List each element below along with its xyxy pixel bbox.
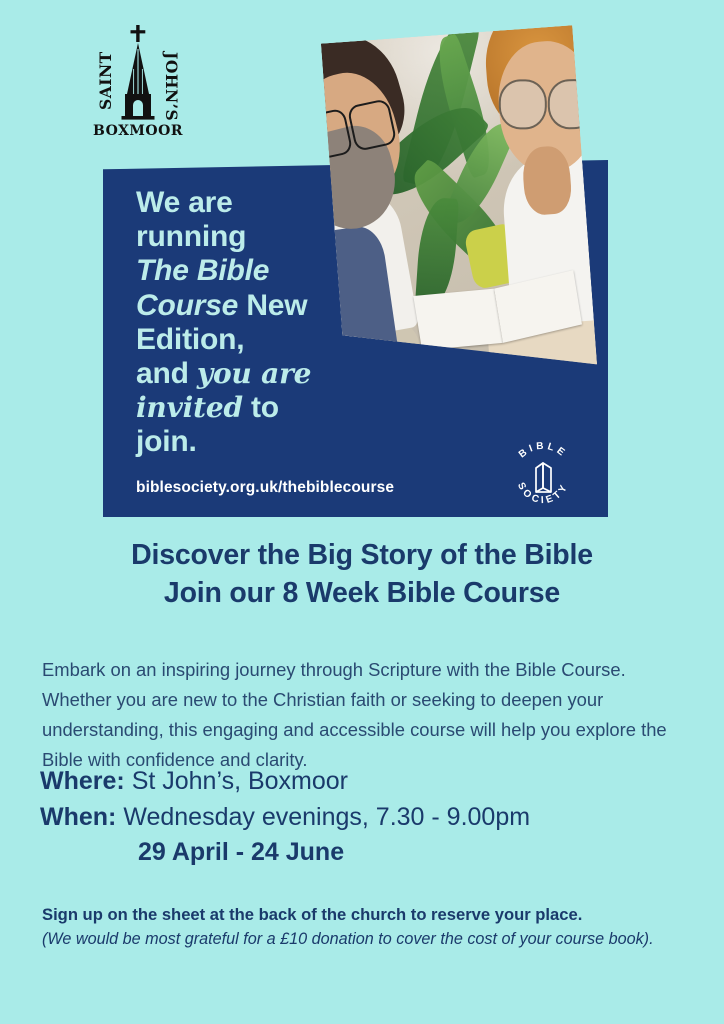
headline-line-6-pre: and [136,357,197,390]
detail-row-when: When: Wednesday evenings, 7.30 - 9.00pm … [40,800,700,871]
donation-note: (We would be most grateful for a £10 don… [42,928,692,951]
title-line-1: Discover the Big Story of the Bible [0,536,724,574]
event-details: Where: St John’s, Boxmoor When: Wednesda… [40,764,700,871]
headline-line-2: running [136,220,246,253]
intro-paragraph: Embark on an inspiring journey through S… [42,655,682,774]
headline-line-6-italic: you are [197,357,311,390]
headline-line-7-rest: to [243,391,279,424]
when-value: Wednesday evenings, 7.30 - 9.00pm [123,803,530,831]
photo-background [321,25,597,383]
course-dates: 29 April - 24 June [40,835,700,871]
headline-line-1: We are [136,186,233,219]
signup-instruction: Sign up on the sheet at the back of the … [42,903,692,926]
where-value: St John’s, Boxmoor [132,767,348,795]
signup-footer: Sign up on the sheet at the back of the … [42,903,692,951]
headline-line-4-rest: New [246,289,307,322]
roundel-top-text: BIBLE [517,441,569,461]
detail-row-where: Where: St John’s, Boxmoor [40,764,700,800]
headline-line-7-italic: invited [136,391,243,424]
headline-line-3: The Bible [136,254,269,287]
headline-line-5: Edition, [136,323,244,356]
headline-line-8: join. [136,425,197,458]
glasses-icon [499,79,596,126]
page-title: Discover the Big Story of the Bible Join… [0,536,724,612]
bible-society-roundel: BIBLE SOCIETY [504,438,582,516]
hero-headline: We are running The Bible Course New Edit… [136,186,351,460]
hero-section: We are running The Bible Course New Edit… [0,0,724,525]
poster-canvas: SAINT JOHN’S BOXMOOR [0,0,724,1024]
hero-photo [321,25,597,383]
where-label: Where: [40,767,125,795]
bible-course-url[interactable]: biblesociety.org.uk/thebiblecourse [136,479,394,497]
when-label: When: [40,803,116,831]
svg-text:BIBLE: BIBLE [517,441,569,461]
headline-line-4-italic: Course [136,289,238,322]
title-line-2: Join our 8 Week Bible Course [0,574,724,612]
plant-leaf-icon [415,196,460,308]
